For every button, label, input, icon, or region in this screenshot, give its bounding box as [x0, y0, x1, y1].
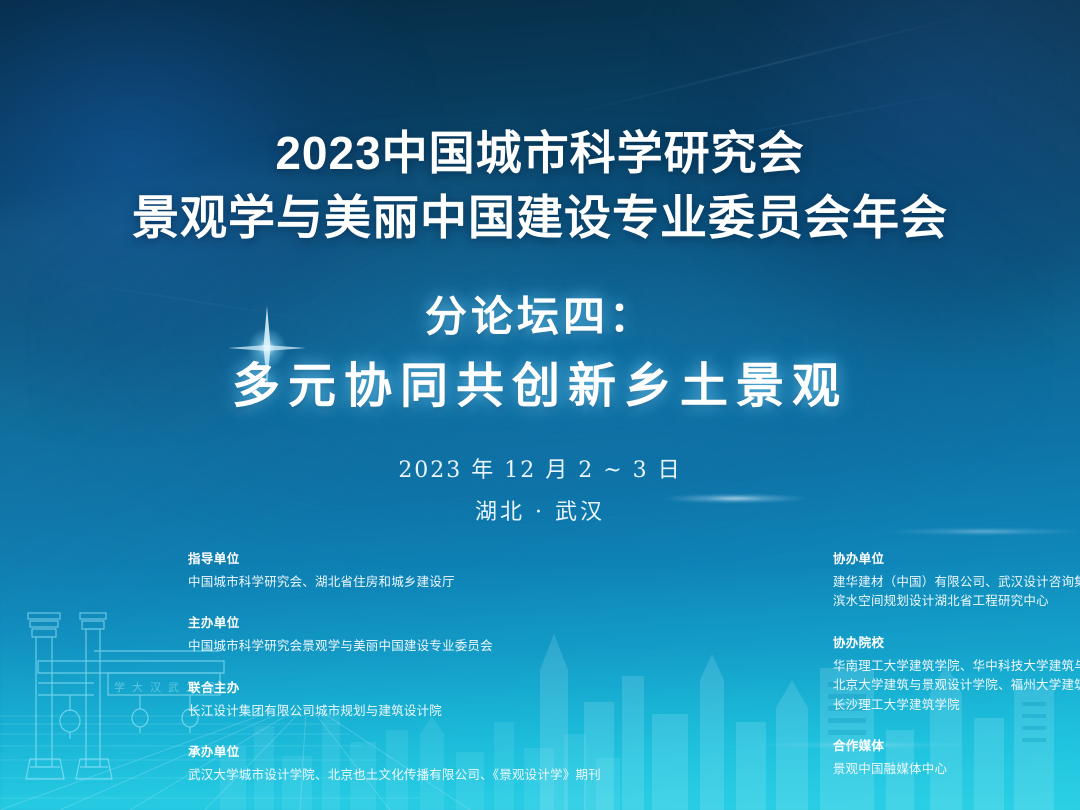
organizer-group: 承办单位武汉大学城市设计学院、北京也土文化传播有限公司、《景观设计学》期刊	[188, 741, 601, 785]
organizer-item: 长江设计集团有限公司城市规划与建筑设计院	[188, 702, 601, 721]
event-details-block: 2023 年 12 月 2 ~ 3 日 湖北 · 武汉	[0, 452, 1080, 526]
organizer-group-heading: 联合主办	[188, 677, 601, 696]
organizer-item: 华南理工大学建筑学院、华中科技大学建筑与城市规划学院	[833, 657, 1080, 676]
title-line-2: 景观学与美丽中国建设专业委员会年会	[0, 192, 1080, 245]
organizer-item: 中国城市科学研究会、湖北省住房和城乡建设厅	[188, 573, 601, 592]
organizer-group-heading: 指导单位	[188, 548, 601, 567]
organizer-group: 主办单位中国城市科学研究会景观学与美丽中国建设专业委员会	[188, 612, 601, 656]
organizers-right-column: 协办单位建华建材（中国）有限公司、武汉设计咨询集团有限公司滨水空间规划设计湖北省…	[833, 548, 1080, 786]
forum-subtitle-block: 分论坛四： 多元协同共创新乡土景观	[0, 292, 1080, 416]
organizers-footer: 指导单位中国城市科学研究会、湖北省住房和城乡建设厅主办单位中国城市科学研究会景观…	[188, 548, 1024, 786]
forum-number-label: 分论坛四：	[0, 292, 1080, 342]
organizer-group: 联合主办长江设计集团有限公司城市规划与建筑设计院	[188, 677, 601, 721]
event-location: 湖北 · 武汉	[0, 494, 1080, 526]
event-date: 2023 年 12 月 2 ~ 3 日	[0, 452, 1080, 484]
conference-poster: 学 大 汉 武 之 强 2	[0, 0, 1080, 810]
organizers-left-column: 指导单位中国城市科学研究会、湖北省住房和城乡建设厅主办单位中国城市科学研究会景观…	[188, 548, 601, 786]
organizer-group: 指导单位中国城市科学研究会、湖北省住房和城乡建设厅	[188, 548, 601, 592]
organizer-item: 中国城市科学研究会景观学与美丽中国建设专业委员会	[188, 637, 601, 656]
forum-theme-label: 多元协同共创新乡土景观	[0, 358, 1080, 416]
organizer-group-heading: 协办单位	[833, 548, 1080, 567]
organizer-item: 武汉大学城市设计学院、北京也土文化传播有限公司、《景观设计学》期刊	[188, 766, 601, 785]
organizer-group-heading: 承办单位	[188, 741, 601, 760]
organizer-item: 北京大学建筑与景观设计学院、福州大学建筑与城乡规划学院	[833, 676, 1080, 695]
organizer-group: 协办单位建华建材（中国）有限公司、武汉设计咨询集团有限公司滨水空间规划设计湖北省…	[833, 548, 1080, 612]
organizer-group-heading: 主办单位	[188, 612, 601, 631]
main-title-block: 2023中国城市科学研究会 景观学与美丽中国建设专业委员会年会	[0, 128, 1080, 244]
organizer-item: 景观中国融媒体中心	[833, 760, 1080, 779]
title-line-1: 2023中国城市科学研究会	[0, 128, 1080, 180]
organizer-group-heading: 协办院校	[833, 632, 1080, 651]
poster-content: 2023中国城市科学研究会 景观学与美丽中国建设专业委员会年会 分论坛四： 多元…	[0, 0, 1080, 810]
organizer-group: 协办院校华南理工大学建筑学院、华中科技大学建筑与城市规划学院北京大学建筑与景观设…	[833, 632, 1080, 715]
organizer-group: 合作媒体景观中国融媒体中心	[833, 735, 1080, 779]
organizer-item: 长沙理工大学建筑学院	[833, 696, 1080, 715]
organizer-item: 建华建材（中国）有限公司、武汉设计咨询集团有限公司	[833, 573, 1080, 592]
organizer-group-heading: 合作媒体	[833, 735, 1080, 754]
organizer-item: 滨水空间规划设计湖北省工程研究中心	[833, 592, 1080, 611]
